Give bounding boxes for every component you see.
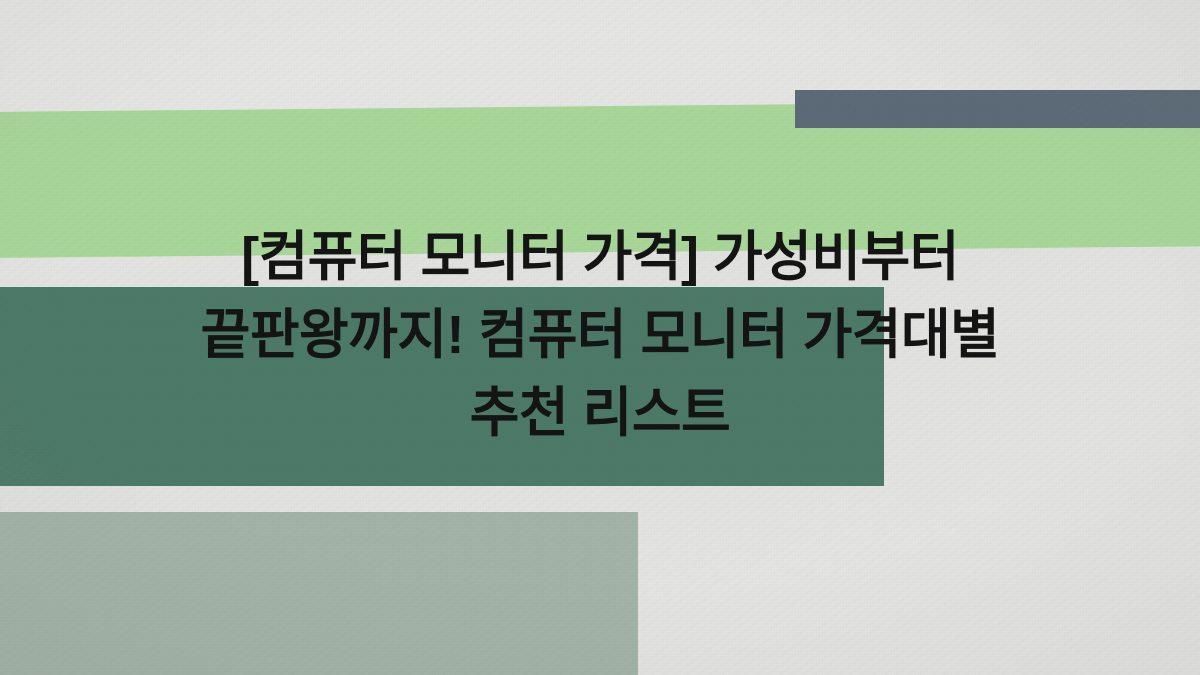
thumbnail-canvas: [컴퓨터 모니터 가격] 가성비부터 끝판왕까지! 컴퓨터 모니터 가격대별 추… xyxy=(0,0,1200,675)
slate-blue-bar-shape xyxy=(795,90,1200,128)
pine-green-block-shape xyxy=(0,287,884,486)
sage-green-block-shape xyxy=(0,512,638,675)
